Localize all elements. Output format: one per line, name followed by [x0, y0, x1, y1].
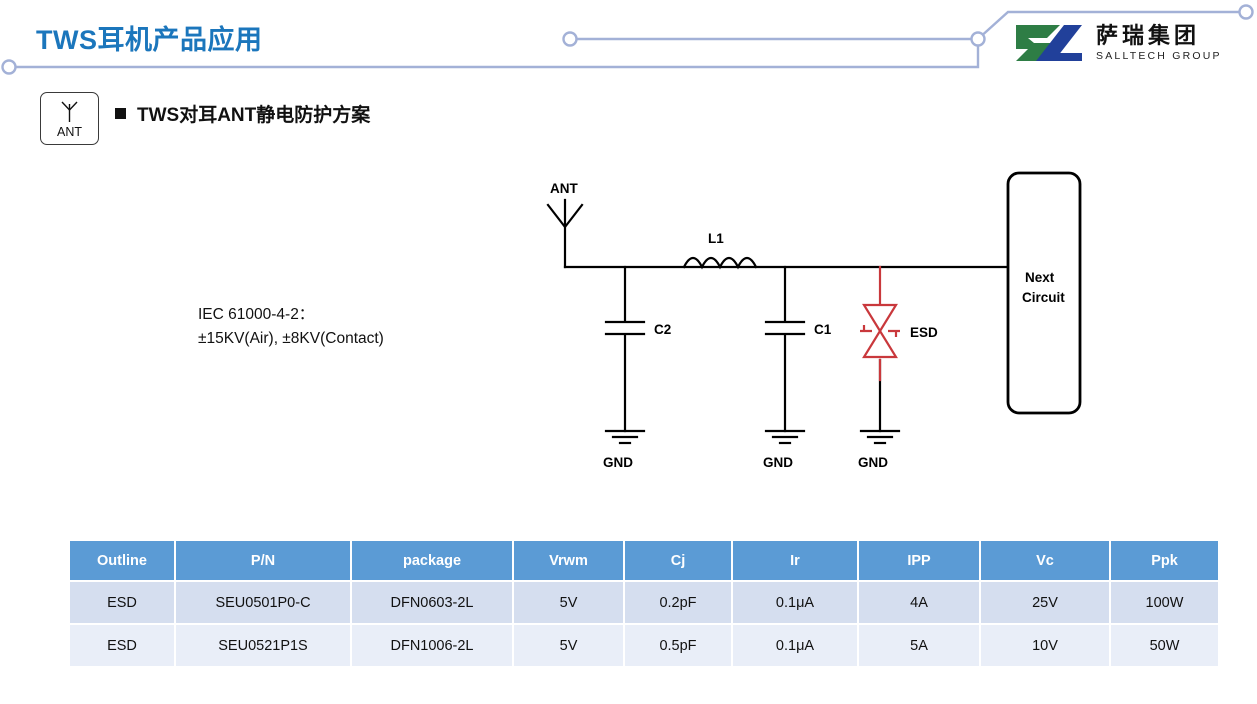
- logo-blue-bar: [1043, 53, 1082, 61]
- section-heading-label: TWS对耳ANT静电防护方案: [137, 100, 370, 127]
- antenna-label: ANT: [550, 181, 578, 196]
- next-circuit-line2: Circuit: [1022, 290, 1065, 305]
- esd-triangle-lower: [864, 331, 896, 357]
- gnd-label-2: GND: [763, 455, 793, 470]
- antenna-icon: [41, 95, 98, 127]
- cell-outline: ESD: [70, 624, 175, 666]
- gnd-label-3: GND: [858, 455, 888, 470]
- ant-chip-label: ANT: [41, 125, 98, 139]
- inductor-label: L1: [708, 231, 724, 246]
- cell-ipp: 4A: [858, 581, 980, 624]
- cell-pn: SEU0521P1S: [175, 624, 351, 666]
- cell-pn: SEU0501P0-C: [175, 581, 351, 624]
- cell-ppk: 100W: [1110, 581, 1218, 624]
- table-row: ESD SEU0521P1S DFN1006-2L 5V 0.5pF 0.1μA…: [70, 624, 1218, 666]
- ant-chip-badge: ANT: [40, 92, 99, 145]
- esd-tvs-symbol: [860, 267, 900, 380]
- cell-package: DFN1006-2L: [351, 624, 513, 666]
- esd-protection-circuit-diagram: ANT L1 C2 C1 ESD GND GND GND Next Circui…: [520, 165, 1100, 485]
- col-package: package: [351, 541, 513, 581]
- cell-ir: 0.1μA: [732, 581, 858, 624]
- next-circuit-line1: Next: [1025, 270, 1055, 285]
- col-pn: P/N: [175, 541, 351, 581]
- cell-package: DFN0603-2L: [351, 581, 513, 624]
- inductor-coil: [684, 258, 756, 267]
- cap2-label: C2: [654, 322, 671, 337]
- col-vc: Vc: [980, 541, 1110, 581]
- square-bullet-icon: [115, 108, 126, 119]
- cell-outline: ESD: [70, 581, 175, 624]
- brand-name-en: SALLTECH GROUP: [1096, 51, 1222, 62]
- salltech-logo-mark: [1014, 22, 1086, 64]
- decor-node-corner: [972, 33, 985, 46]
- iec-standard-note: IEC 61000-4-2： ±15KV(Air), ±8KV(Contact): [198, 303, 384, 352]
- page-title: TWS耳机产品应用: [36, 18, 263, 57]
- cell-ir: 0.1μA: [732, 624, 858, 666]
- esd-label: ESD: [910, 325, 938, 340]
- cell-vc: 10V: [980, 624, 1110, 666]
- decor-node-mid: [564, 33, 577, 46]
- col-ppk: Ppk: [1110, 541, 1218, 581]
- cell-cj: 0.2pF: [624, 581, 732, 624]
- decor-node-left: [3, 61, 16, 74]
- gnd-label-1: GND: [603, 455, 633, 470]
- cell-vrwm: 5V: [513, 581, 624, 624]
- cell-ppk: 50W: [1110, 624, 1218, 666]
- brand-name-cn: 萨瑞集团: [1096, 25, 1222, 47]
- col-ipp: IPP: [858, 541, 980, 581]
- table-header-row: Outline P/N package Vrwm Cj Ir IPP Vc Pp…: [70, 541, 1218, 581]
- cell-cj: 0.5pF: [624, 624, 732, 666]
- brand-logo: 萨瑞集团 SALLTECH GROUP: [1014, 22, 1222, 64]
- cap1-label: C1: [814, 322, 832, 337]
- col-vrwm: Vrwm: [513, 541, 624, 581]
- section-heading: TWS对耳ANT静电防护方案: [115, 100, 370, 127]
- esd-triangle-upper: [864, 305, 896, 331]
- col-ir: Ir: [732, 541, 858, 581]
- cell-vrwm: 5V: [513, 624, 624, 666]
- col-cj: Cj: [624, 541, 732, 581]
- table-row: ESD SEU0501P0-C DFN0603-2L 5V 0.2pF 0.1μ…: [70, 581, 1218, 624]
- esd-spec-table: Outline P/N package Vrwm Cj Ir IPP Vc Pp…: [70, 541, 1218, 666]
- col-outline: Outline: [70, 541, 175, 581]
- decor-node-right: [1240, 6, 1253, 19]
- cell-vc: 25V: [980, 581, 1110, 624]
- cell-ipp: 5A: [858, 624, 980, 666]
